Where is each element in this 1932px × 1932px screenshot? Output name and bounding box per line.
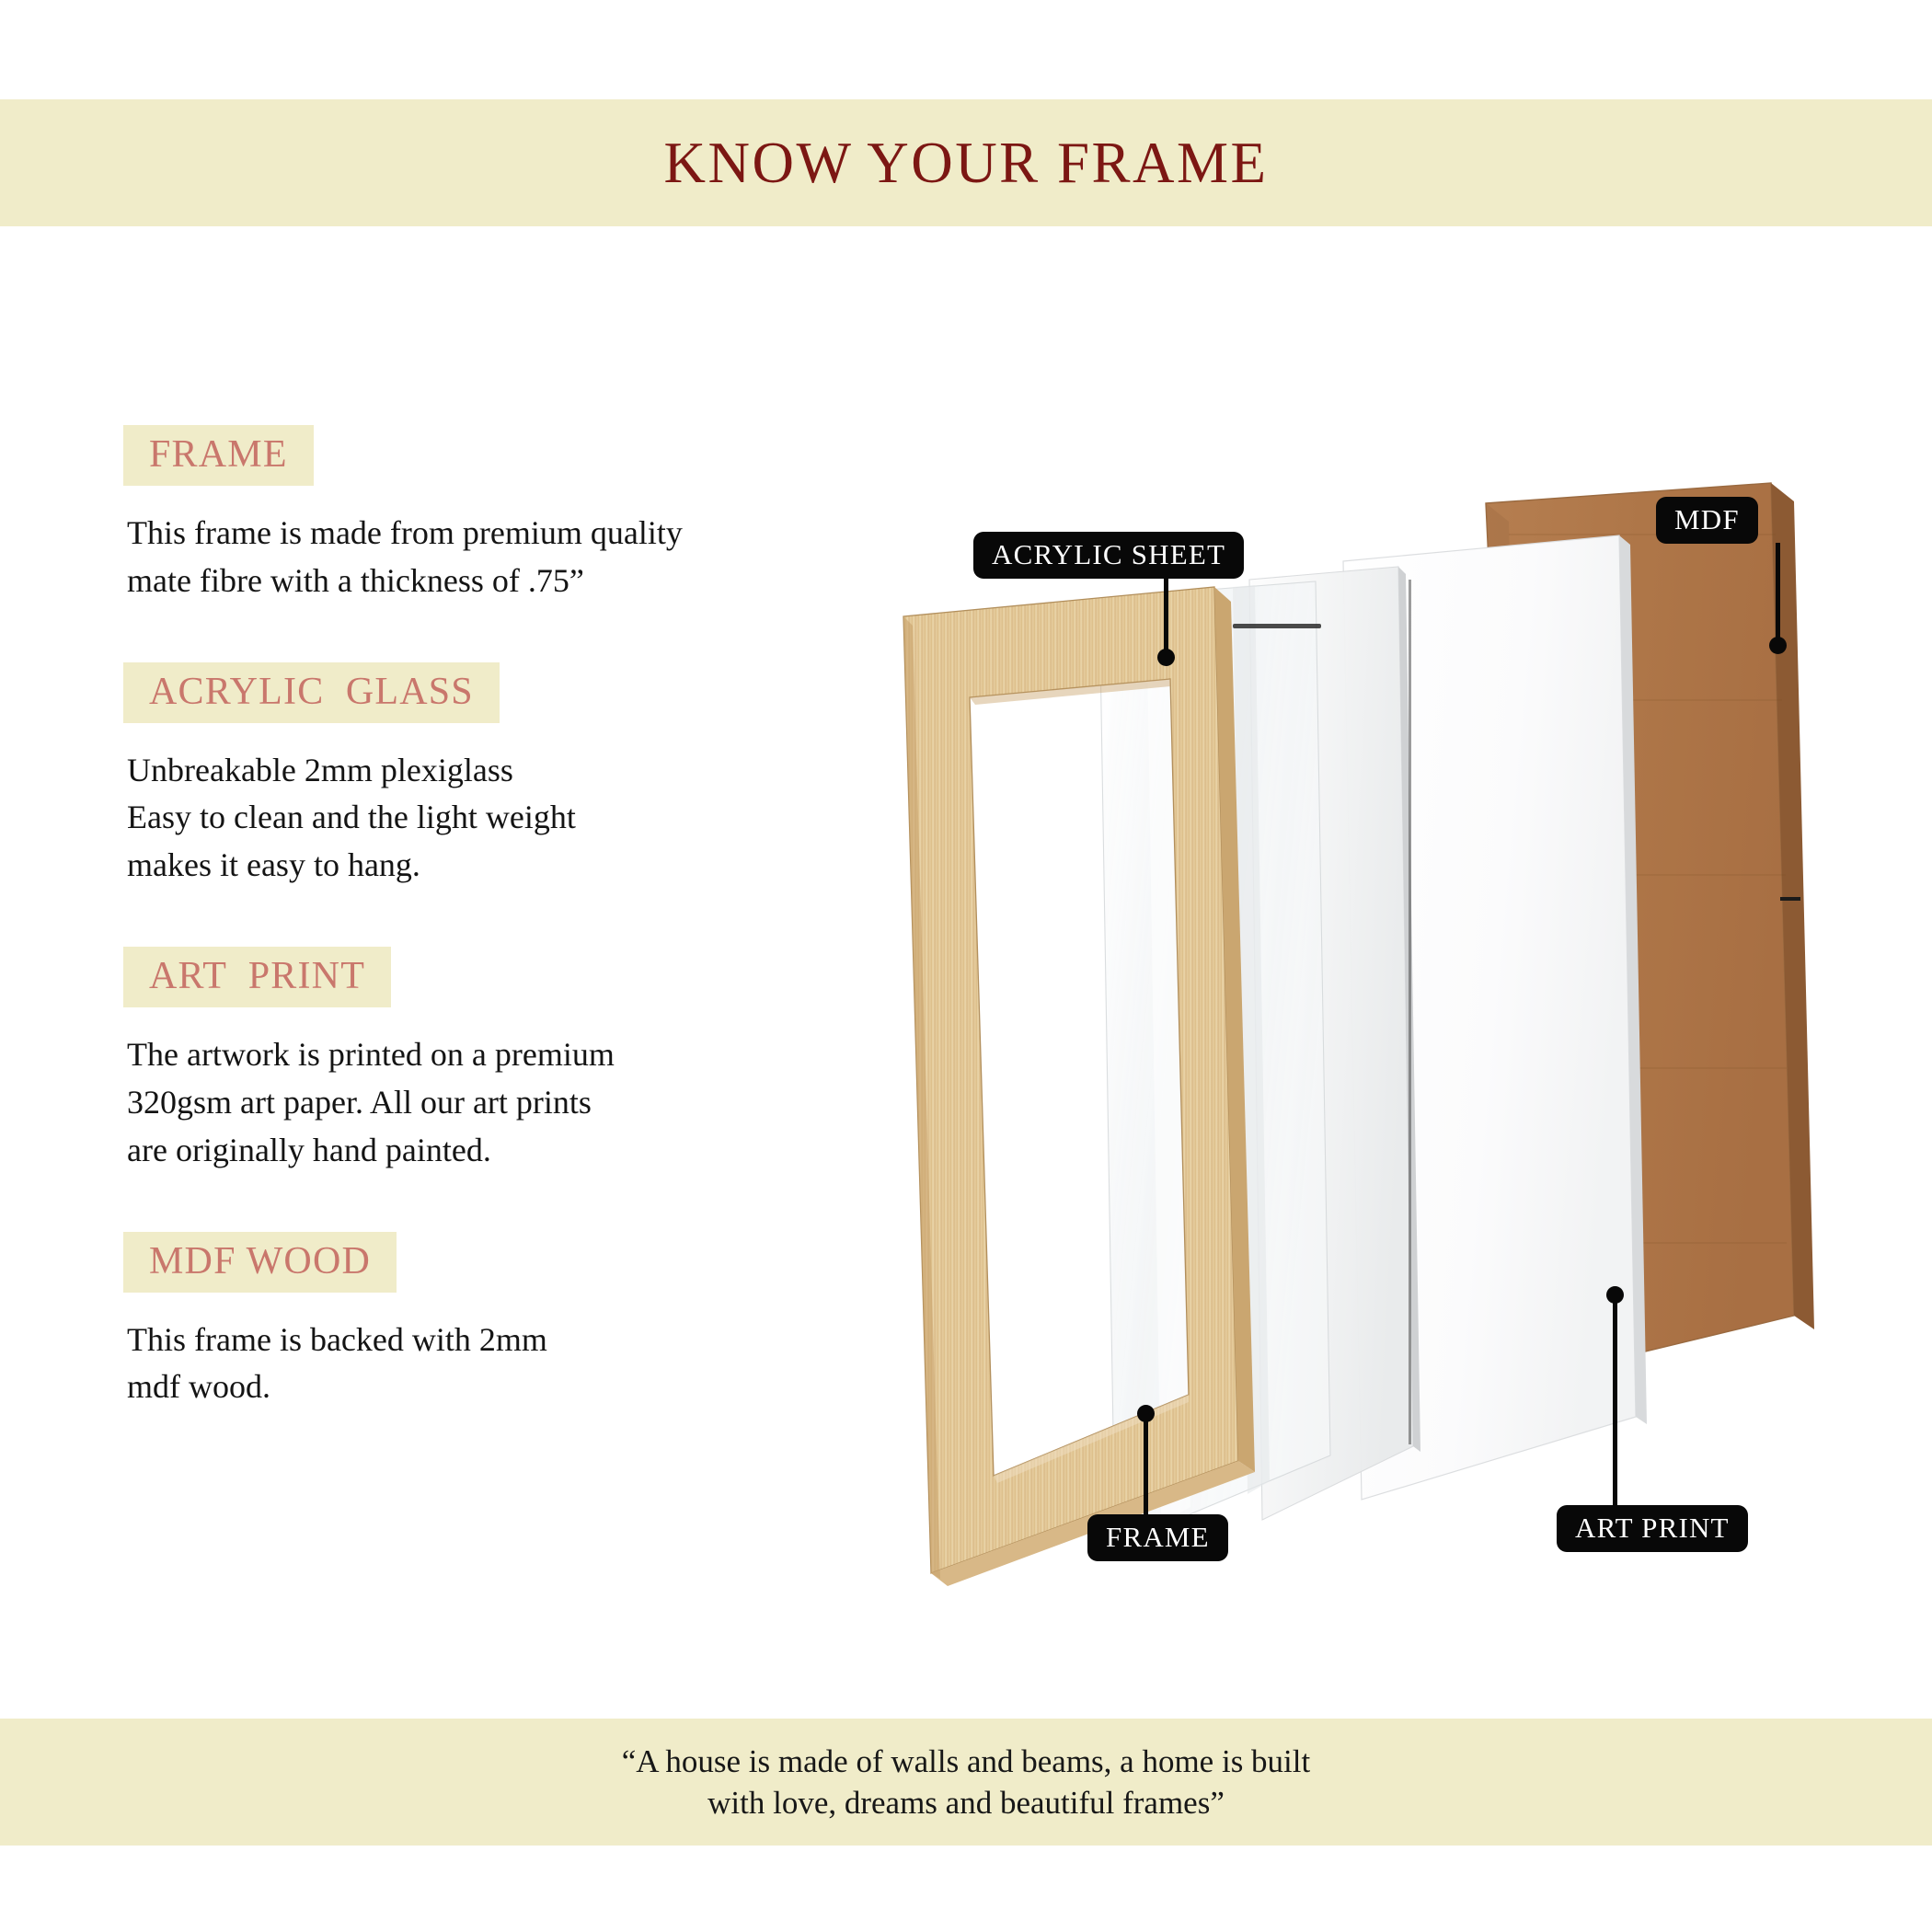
- leader-line-frame: [1144, 1417, 1148, 1520]
- leader-line-mdf: [1776, 543, 1780, 644]
- leader-line-acrylic-sheet: [1164, 575, 1168, 656]
- section-heading-frame: FRAME: [123, 425, 314, 486]
- callout-art-print: ART PRINT: [1557, 1505, 1748, 1552]
- page-title: KNOW YOUR FRAME: [663, 134, 1268, 192]
- callout-acrylic-sheet: ACRYLIC SHEET: [973, 532, 1244, 579]
- info-column: FRAME This frame is made from premium qu…: [123, 425, 878, 1417]
- wood-frame-layer: [903, 587, 1255, 1586]
- section-body-mdf-wood: This frame is backed with 2mm mdf wood.: [123, 1317, 878, 1412]
- header-band: KNOW YOUR FRAME: [0, 99, 1932, 226]
- leader-dot-frame: [1137, 1405, 1155, 1422]
- section-body-art-print: The artwork is printed on a premium 320g…: [123, 1031, 878, 1174]
- section-heading-art-print: ART PRINT: [123, 947, 391, 1007]
- section-body-frame: This frame is made from premium quality …: [123, 510, 878, 605]
- section-heading-acrylic-glass: ACRYLIC GLASS: [123, 662, 500, 723]
- info-block-acrylic-glass: ACRYLIC GLASS Unbreakable 2mm plexiglass…: [123, 662, 878, 890]
- mdf-edge-tick-mark: [1780, 897, 1800, 901]
- leader-line-art-print: [1613, 1297, 1617, 1511]
- exploded-frame-diagram: [883, 478, 1895, 1601]
- section-heading-mdf-wood: MDF WOOD: [123, 1232, 397, 1293]
- leader-dot-acrylic-sheet: [1157, 649, 1175, 666]
- leader-dot-art-print: [1606, 1286, 1624, 1304]
- info-block-mdf-wood: MDF WOOD This frame is backed with 2mm m…: [123, 1232, 878, 1412]
- section-body-acrylic-glass: Unbreakable 2mm plexiglass Easy to clean…: [123, 747, 878, 890]
- info-block-art-print: ART PRINT The artwork is printed on a pr…: [123, 947, 878, 1174]
- footer-quote-line-1: “A house is made of walls and beams, a h…: [622, 1741, 1310, 1783]
- info-block-frame: FRAME This frame is made from premium qu…: [123, 425, 878, 605]
- leader-dot-mdf: [1769, 637, 1787, 654]
- footer-quote-line-2: with love, dreams and beautiful frames”: [707, 1782, 1225, 1824]
- callout-frame: FRAME: [1087, 1514, 1228, 1561]
- footer-band: “A house is made of walls and beams, a h…: [0, 1719, 1932, 1846]
- callout-mdf: MDF: [1656, 497, 1758, 544]
